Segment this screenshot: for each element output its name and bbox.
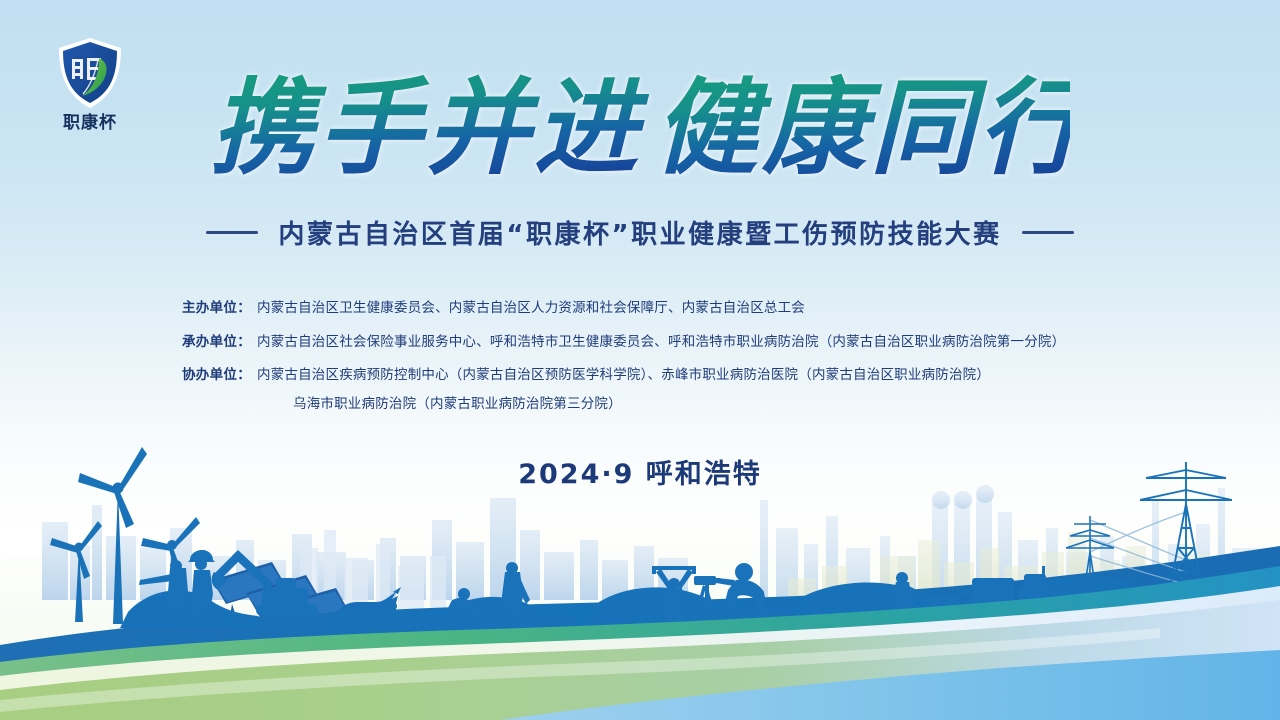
organizers-block: 主办单位： 内蒙古自治区卫生健康委员会、内蒙古自治区人力资源和社会保障厅、内蒙古… [182, 299, 1192, 428]
organizer-row-host: 主办单位： 内蒙古自治区卫生健康委员会、内蒙古自治区人力资源和社会保障厅、内蒙古… [182, 299, 1192, 319]
shield-icon [55, 36, 125, 110]
organizer-row-co-host: 承办单位： 内蒙古自治区社会保险事业服务中心、呼和浩特市卫生健康委员会、呼和浩特… [182, 333, 1192, 353]
poster-canvas: 职康杯 携手并进 健康同行 内蒙古自治区首届“职康杯 [0, 0, 1280, 720]
organizer-label: 协办单位： [182, 366, 251, 386]
logo: 职康杯 [44, 36, 136, 140]
subtitle-dash-left [206, 231, 258, 234]
organizer-value-wrap: 内蒙古自治区疾病预防控制中心（内蒙古自治区预防医学科学院）、赤峰市职业病防治医院… [257, 366, 990, 414]
subtitle-row: 内蒙古自治区首届“职康杯”职业健康暨工伤预防技能大赛 [0, 214, 1280, 251]
organizer-label: 主办单位： [182, 299, 251, 319]
organizer-value: 内蒙古自治区疾病预防控制中心（内蒙古自治区预防医学科学院）、赤峰市职业病防治医院… [257, 367, 990, 383]
date-city: 2024·9 呼和浩特 [0, 452, 1280, 491]
organizer-value: 内蒙古自治区社会保险事业服务中心、呼和浩特市卫生健康委员会、呼和浩特市职业病防治… [257, 333, 1065, 353]
subtitle-dash-right [1022, 231, 1074, 234]
organizer-value-continuation: 乌海市职业病防治院（内蒙古职业病防治院第三分院） [257, 395, 990, 415]
organizer-row-support: 协办单位： 内蒙古自治区疾病预防控制中心（内蒙古自治区预防医学科学院）、赤峰市职… [182, 366, 1192, 414]
organizer-label: 承办单位： [182, 333, 251, 353]
logo-wordmark: 职康杯 [63, 114, 117, 131]
subtitle-text: 内蒙古自治区首届“职康杯”职业健康暨工伤预防技能大赛 [278, 214, 1001, 251]
organizer-value: 内蒙古自治区卫生健康委员会、内蒙古自治区人力资源和社会保障厅、内蒙古自治区总工会 [257, 299, 805, 319]
